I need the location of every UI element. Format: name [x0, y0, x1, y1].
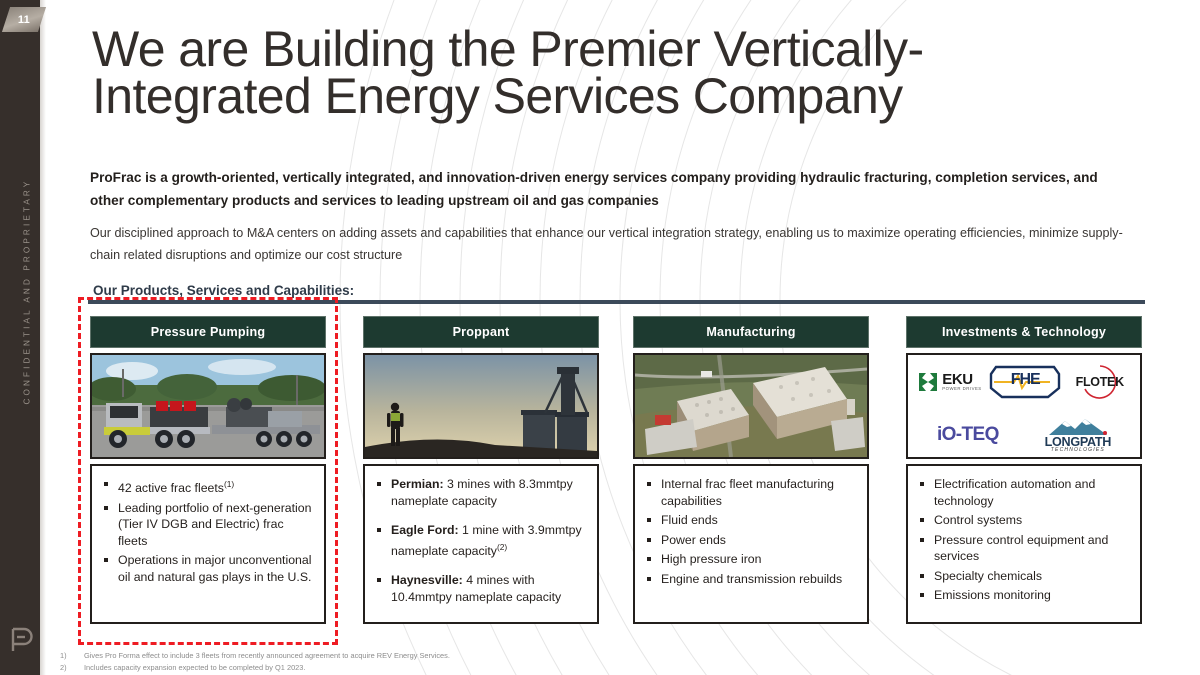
bullet-list-investments-technology: Electrification automation and technolog…: [918, 476, 1132, 604]
bullet-list-proppant: Permian: 3 mines with 8.3mmtpy nameplate…: [375, 476, 589, 605]
bullet-item: 42 active frac fleets(1): [102, 476, 316, 497]
column-header-investments-technology: Investments & Technology: [906, 316, 1142, 348]
bullet-text: 42 active frac fleets: [118, 481, 224, 495]
bullet-item: Permian: 3 mines with 8.3mmtpy nameplate…: [375, 476, 589, 509]
partner-logo-row-2: iO-TEQ LONGPATH TECHNOLOGIES: [908, 408, 1140, 459]
column-body-proppant: Permian: 3 mines with 8.3mmtpy nameplate…: [363, 464, 599, 624]
bullet-item: Fluid ends: [645, 512, 859, 529]
column-investments-technology: Investments & Technology EKU POWER DRIVE…: [906, 316, 1142, 624]
bullet-text: Engine and transmission rebuilds: [661, 572, 842, 586]
manufacturing-facility-aerial-photo: [633, 353, 869, 459]
bullet-item: Operations in major unconventional oil a…: [102, 552, 316, 585]
longpath-logo: LONGPATH TECHNOLOGIES: [1045, 416, 1111, 454]
longpath-tagline: TECHNOLOGIES: [1051, 448, 1105, 453]
eku-logo: EKU POWER DRIVES: [917, 371, 981, 393]
flotek-wordmark: FLOTEK: [1076, 375, 1124, 389]
bullet-text: Control systems: [934, 513, 1022, 527]
column-header-manufacturing: Manufacturing: [633, 316, 869, 348]
bullet-text: Pressure control equipment and services: [934, 533, 1108, 564]
bullet-text: Power ends: [661, 533, 726, 547]
bullet-item: Emissions monitoring: [918, 587, 1132, 604]
column-body-manufacturing: Internal frac fleet manufacturing capabi…: [633, 464, 869, 624]
fhe-logo: FHE: [988, 364, 1062, 400]
footnote-marker: (1): [224, 479, 234, 489]
bullet-item: Engine and transmission rebuilds: [645, 571, 859, 588]
column-header-pressure-pumping: Pressure Pumping: [90, 316, 326, 348]
fhe-wordmark: FHE: [1011, 371, 1040, 389]
bullet-text: Leading portfolio of next-generation (Ti…: [118, 501, 311, 548]
eku-tagline: POWER DRIVES: [942, 387, 981, 391]
bullet-text: Emissions monitoring: [934, 588, 1051, 602]
column-proppant: Proppant: [363, 316, 599, 624]
bullet-lead-term: Permian:: [391, 477, 444, 491]
column-body-pressure-pumping: 42 active frac fleets(1)Leading portfoli…: [90, 464, 326, 624]
bullet-item: Eagle Ford: 1 mine with 3.9mmtpy namepla…: [375, 522, 589, 559]
flotek-logo: FLOTEK: [1069, 363, 1131, 401]
longpath-mountain-icon: [1045, 416, 1111, 436]
partner-logos-panel: EKU POWER DRIVES FHE FLOTEK: [906, 353, 1142, 459]
bullet-list-pressure-pumping: 42 active frac fleets(1)Leading portfoli…: [102, 476, 316, 585]
footnote-marker: (2): [497, 542, 507, 552]
column-body-investments-technology: Electrification automation and technolog…: [906, 464, 1142, 624]
eku-mark-icon: [917, 371, 939, 393]
bullet-item: Electrification automation and technolog…: [918, 476, 1132, 509]
bullet-lead-term: Eagle Ford:: [391, 523, 459, 537]
capability-columns: Pressure Pumping: [0, 0, 1200, 675]
bullet-text: High pressure iron: [661, 552, 761, 566]
bullet-text: Electrification automation and technolog…: [934, 477, 1095, 508]
bullet-item: Haynesville: 4 mines with 10.4mmtpy name…: [375, 572, 589, 605]
bullet-text: Fluid ends: [661, 513, 718, 527]
column-pressure-pumping: Pressure Pumping: [90, 316, 326, 624]
bullet-item: Power ends: [645, 532, 859, 549]
bullet-item: Pressure control equipment and services: [918, 532, 1132, 565]
bullet-item: Control systems: [918, 512, 1132, 529]
column-header-proppant: Proppant: [363, 316, 599, 348]
bullet-item: Specialty chemicals: [918, 568, 1132, 585]
bullet-item: High pressure iron: [645, 551, 859, 568]
bullet-lead-term: Haynesville:: [391, 573, 463, 587]
bullet-list-manufacturing: Internal frac fleet manufacturing capabi…: [645, 476, 859, 587]
partner-logo-row-1: EKU POWER DRIVES FHE FLOTEK: [908, 355, 1140, 408]
bullet-text: Internal frac fleet manufacturing capabi…: [661, 477, 834, 508]
ioteq-logo: iO-TEQ: [937, 424, 999, 446]
bullet-text: Operations in major unconventional oil a…: [118, 553, 311, 584]
eku-wordmark: EKU: [942, 372, 981, 387]
column-manufacturing: Manufacturing: [633, 316, 869, 624]
bullet-item: Leading portfolio of next-generation (Ti…: [102, 500, 316, 550]
bullet-text: Specialty chemicals: [934, 569, 1042, 583]
sand-mine-sunset-photo: [363, 353, 599, 459]
frac-truck-photo: [90, 353, 326, 459]
bullet-item: Internal frac fleet manufacturing capabi…: [645, 476, 859, 509]
